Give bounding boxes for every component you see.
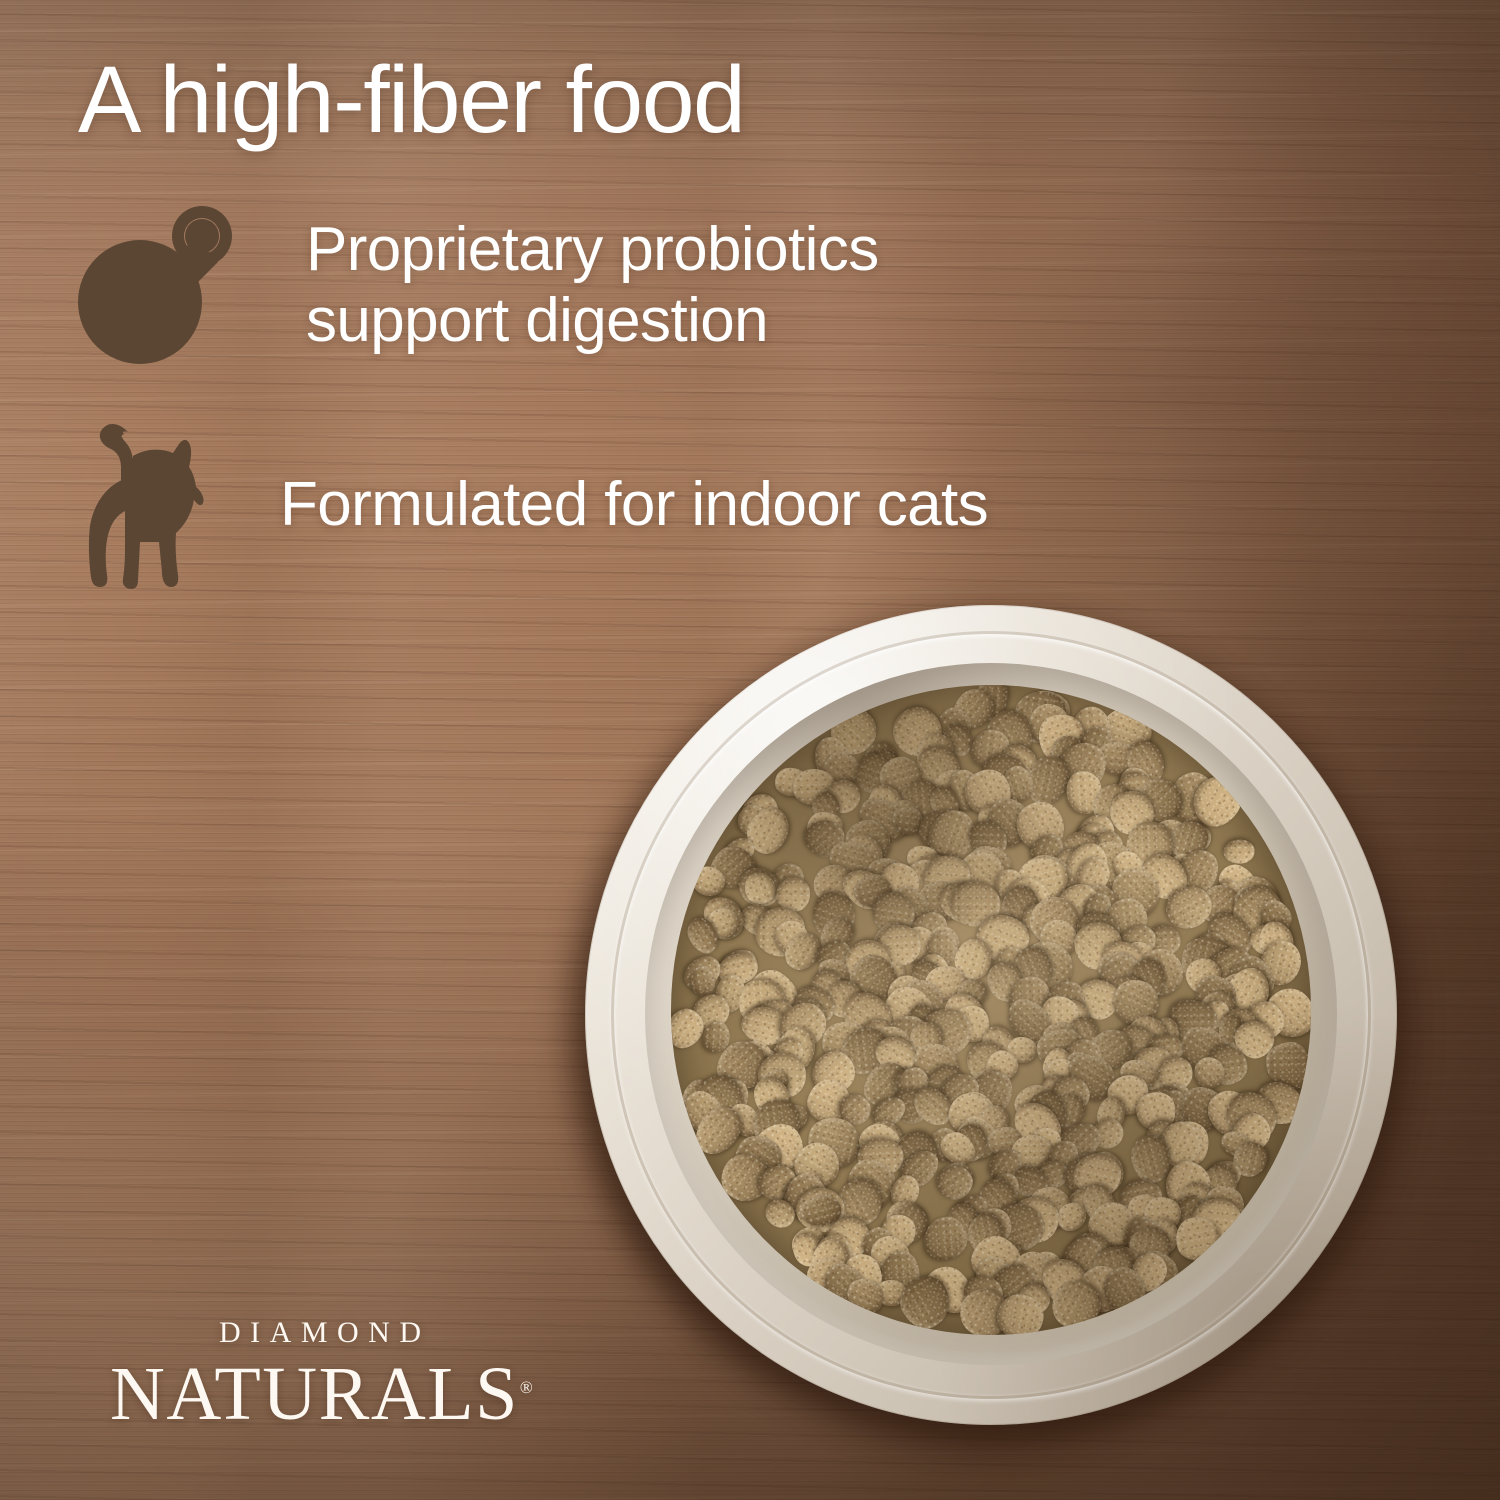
product-feature-image: A high-fiber food Proprietary probi <box>0 0 1500 1500</box>
ceramic-pet-food-bowl <box>585 605 1397 1425</box>
brand-logo-naturals-text: NATURALS <box>110 1352 519 1436</box>
cat-silhouette-icon <box>78 420 208 590</box>
brand-logo-naturals: NATURALS® <box>110 1356 533 1434</box>
probiotic-rings-icon <box>78 200 238 370</box>
feature-probiotics: Proprietary probiotics support digestion <box>78 200 879 370</box>
feature-probiotics-label: Proprietary probiotics support digestion <box>306 215 879 356</box>
dry-kibble <box>671 685 1311 1335</box>
cat-silhouette-glyph <box>78 420 208 590</box>
kibble-piece <box>1224 840 1255 865</box>
feature-indoor-cats-label: Formulated for indoor cats <box>280 470 988 541</box>
registered-trademark-icon: ® <box>520 1378 533 1397</box>
brand-logo: DIAMOND NATURALS® <box>110 1318 530 1434</box>
probiotic-rings-glyph <box>78 200 238 370</box>
feature-indoor-cats: Formulated for indoor cats <box>78 420 988 590</box>
brand-logo-diamond: DIAMOND <box>110 1318 530 1348</box>
page-title: A high-fiber food <box>78 52 744 149</box>
